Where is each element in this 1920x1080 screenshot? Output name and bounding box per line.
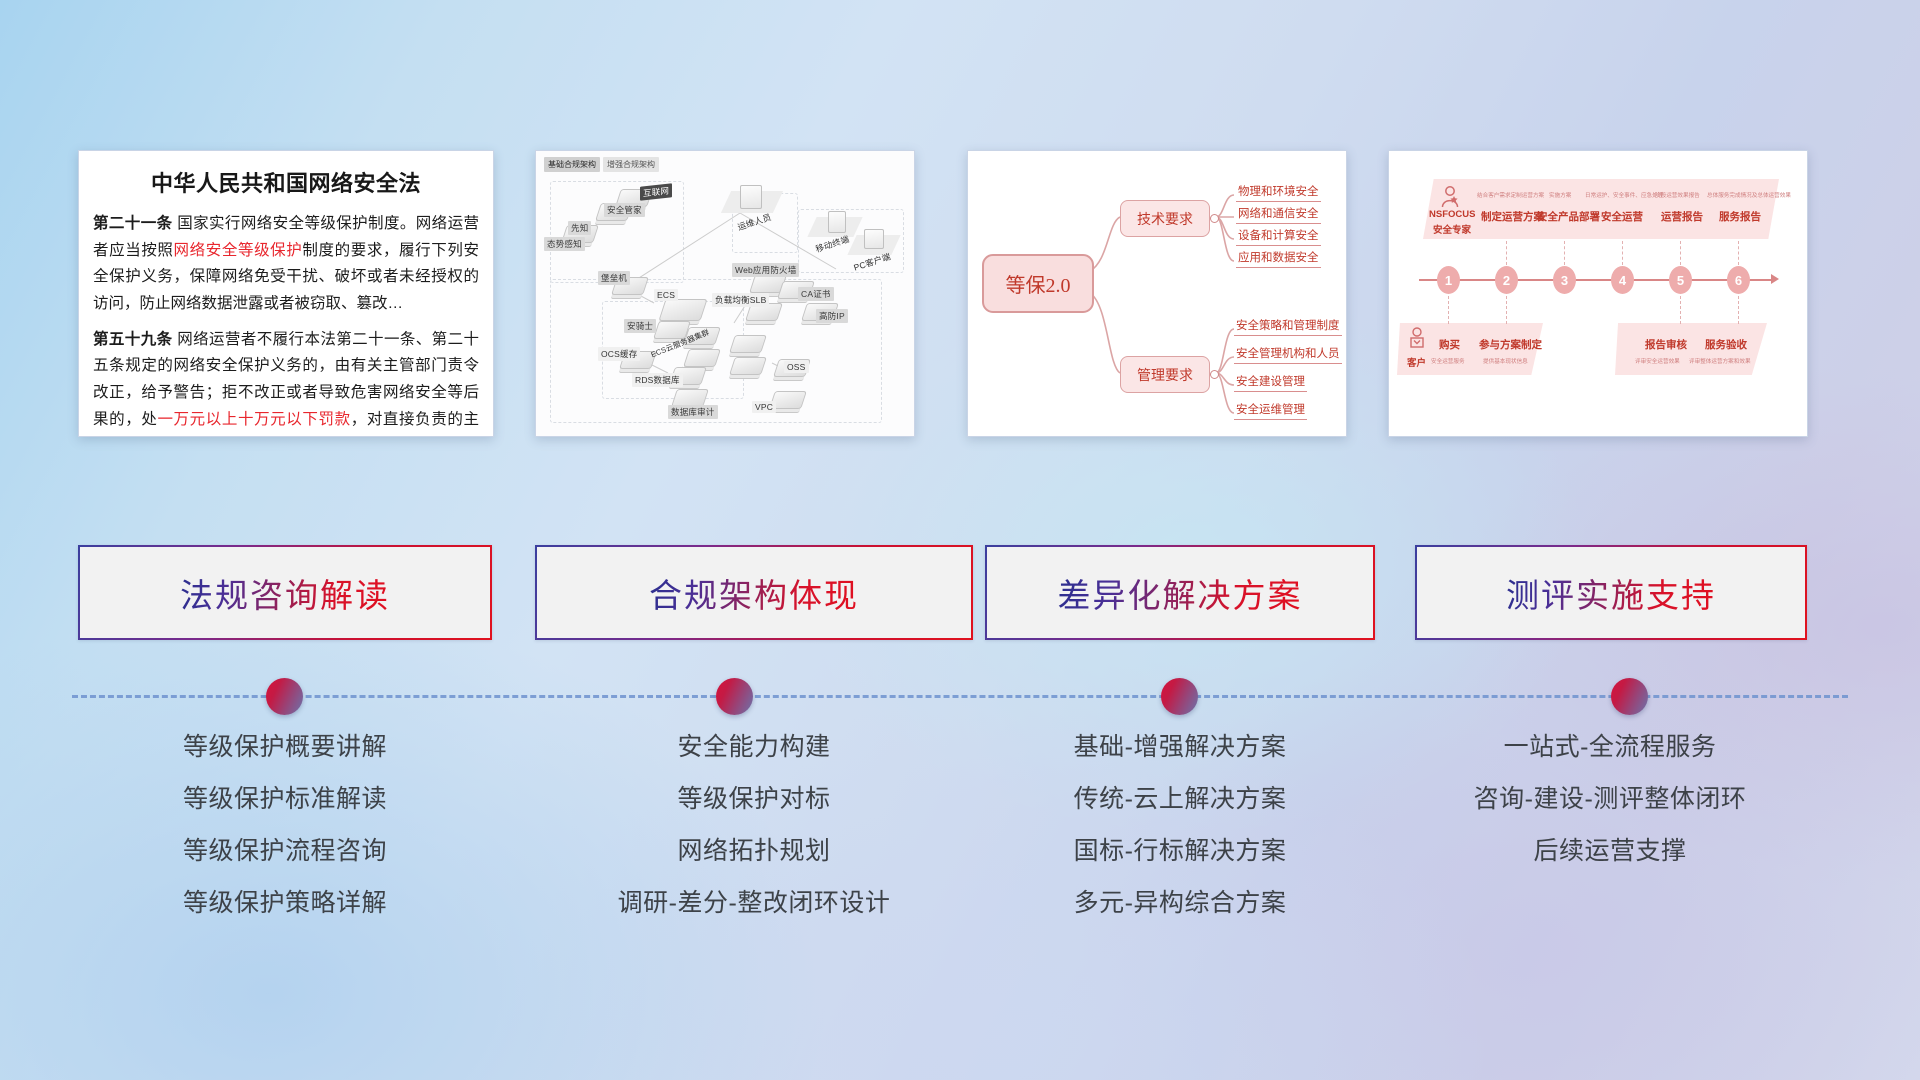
mindmap-diagram: 等保2.0 技术要求 物理和环境安全 网络和通信安全 设备和计算安全 应用和数据…	[968, 151, 1346, 436]
roadmap-step-5-bottom-label: 报告审核	[1645, 337, 1687, 352]
architecture-label-ca-cert: CA证书	[798, 287, 834, 301]
roadmap-step-2-bottom-label: 参与方案制定	[1479, 337, 1542, 352]
timeline	[0, 660, 1920, 740]
roadmap-dash-6-bottom	[1738, 296, 1740, 324]
mindmap-branch-technical: 技术要求	[1120, 200, 1210, 237]
architecture-icon-mobile-screen	[828, 211, 846, 233]
law-article-21: 第二十一条 国家实行网络安全等级保护制度。网络运营者应当按照网络安全等级保护制度…	[93, 211, 479, 318]
list-item: 等级保护标准解读	[78, 787, 492, 812]
architecture-node-ecs-b	[686, 349, 718, 367]
mindmap-leaf-physical-env: 物理和环境安全	[1236, 183, 1321, 202]
roadmap-diagram: NSFOCUS 安全专家 客户 1 2 3 4 5 6	[1389, 151, 1807, 436]
pill-regulation-consulting[interactable]: 法规咨询解读	[78, 545, 492, 640]
architecture-label-db-audit: 数据库审计	[668, 405, 718, 419]
law-article-59-label: 第五十九条	[93, 331, 173, 348]
architecture-label-bastion-host: 堡垒机	[598, 271, 630, 285]
roadmap-step-6-top-sub: 总体服务完成情况及总体运营效果	[1707, 191, 1791, 199]
architecture-icon-admin-screen	[740, 185, 762, 209]
mindmap-leaf-policy-system: 安全策略和管理制度	[1234, 317, 1342, 336]
list-item: 基础-增强解决方案	[985, 735, 1375, 760]
mindmap-leaf-app-data: 应用和数据安全	[1236, 249, 1321, 268]
roadmap-dash-5-bottom	[1680, 296, 1682, 324]
timeline-dot-3[interactable]	[1161, 678, 1198, 715]
architecture-label-security-butler: 安全管家	[604, 203, 645, 217]
pill-regulation-consulting-label: 法规咨询解读	[180, 569, 390, 617]
roadmap-step-5-bottom-sub: 评审安全运营效果	[1635, 357, 1680, 365]
mindmap-root-node: 等保2.0	[982, 254, 1094, 313]
roadmap-dash-6-top	[1738, 241, 1740, 265]
architecture-node-vpc	[772, 391, 804, 409]
architecture-label-slb: 负载均衡SLB	[712, 293, 769, 307]
architecture-node-ecs-c	[732, 335, 764, 353]
roadmap-step-6-bottom-label: 服务验收	[1705, 337, 1747, 352]
law-article-59-seg-1: 一万元以上十万元以下罚款	[157, 411, 350, 428]
pill-assessment-support[interactable]: 测评实施支持	[1415, 545, 1807, 640]
list-item: 一站式-全流程服务	[1400, 735, 1820, 760]
mindmap-leaf-construction-mgmt: 安全建设管理	[1234, 373, 1307, 392]
roadmap-step-1-node[interactable]: 1	[1437, 266, 1460, 294]
mindmap-leaf-org-personnel: 安全管理机构和人员	[1234, 345, 1342, 364]
mindmap-branch-management: 管理要求	[1120, 356, 1210, 393]
law-title: 中华人民共和国网络安全法	[79, 166, 493, 198]
detail-column-solution: 基础-增强解决方案 传统-云上解决方案 国标-行标解决方案 多元-异构综合方案	[985, 735, 1375, 943]
card-dengbao-mindmap[interactable]: 等保2.0 技术要求 物理和环境安全 网络和通信安全 设备和计算安全 应用和数据…	[967, 150, 1347, 437]
architecture-label-xianzhi: 先知	[568, 221, 591, 235]
roadmap-step-5-top-label: 运营报告	[1661, 209, 1703, 224]
architecture-label-situation-awareness: 态势感知	[544, 237, 585, 251]
pill-differentiated-solution-label: 差异化解决方案	[1058, 569, 1303, 617]
architecture-label-vpc: VPC	[752, 401, 776, 413]
list-item: 咨询-建设-测评整体闭环	[1400, 787, 1820, 812]
pill-compliance-architecture[interactable]: 合规架构体现	[535, 545, 973, 640]
roadmap-step-3-node[interactable]: 3	[1553, 266, 1576, 294]
card-compliance-architecture[interactable]: 基础合规架构 增强合规架构	[535, 150, 915, 437]
architecture-label-anqishi: 安骑士	[624, 319, 656, 333]
roadmap-step-1-bottom-label: 购买	[1439, 337, 1460, 352]
roadmap-dash-2-bottom	[1506, 296, 1508, 324]
architecture-label-waf: Web应用防火墙	[732, 263, 799, 277]
roadmap-expert-name2: 安全专家	[1433, 222, 1471, 236]
architecture-node-ecs	[662, 299, 704, 321]
list-item: 等级保护概要讲解	[78, 735, 492, 760]
list-item: 网络拓扑规划	[520, 839, 988, 864]
roadmap-step-4-top-sub: 日常运护、安全事件、应急处理	[1585, 191, 1663, 199]
law-article-21-label: 第二十一条	[93, 215, 173, 232]
mindmap-leaf-device-compute: 设备和计算安全	[1236, 227, 1321, 246]
list-item: 安全能力构建	[520, 735, 988, 760]
pill-compliance-architecture-label: 合规架构体现	[649, 569, 859, 617]
mindmap-leaf-ops-mgmt: 安全运维管理	[1234, 401, 1307, 420]
roadmap-step-4-top-label: 安全运营	[1601, 209, 1643, 224]
roadmap-step-6-bottom-sub: 评审整体运营方案和效果	[1689, 357, 1751, 365]
architecture-node-ecs-d	[732, 357, 764, 375]
roadmap-dash-1-bottom	[1448, 296, 1450, 324]
timeline-dot-2[interactable]	[716, 678, 753, 715]
list-item: 等级保护对标	[520, 787, 988, 812]
category-pill-row: 法规咨询解读 合规架构体现 差异化解决方案 测评实施支持	[0, 545, 1920, 645]
customer-person-icon-svg	[1407, 327, 1427, 353]
list-item: 多元-异构综合方案	[985, 891, 1375, 916]
roadmap-step-2-top-label: 制定运营方案	[1481, 209, 1544, 224]
roadmap-step-1-bottom-sub: 安全运营服务	[1431, 357, 1465, 365]
roadmap-step-6-node[interactable]: 6	[1727, 266, 1750, 294]
thumbnail-card-row: 中华人民共和国网络安全法 第二十一条 国家实行网络安全等级保护制度。网络运营者应…	[0, 150, 1920, 440]
list-item: 调研-差分-整改闭环设计	[520, 891, 988, 916]
roadmap-dash-5-top	[1680, 241, 1682, 265]
card-cybersecurity-law[interactable]: 中华人民共和国网络安全法 第二十一条 国家实行网络安全等级保护制度。网络运营者应…	[78, 150, 494, 437]
detail-column-architecture: 安全能力构建 等级保护对标 网络拓扑规划 调研-差分-整改闭环设计	[520, 735, 988, 943]
pill-assessment-support-label: 测评实施支持	[1506, 569, 1716, 617]
roadmap-step-2-top-sub: 结合客户需求定制运营方案	[1477, 191, 1544, 199]
roadmap-dash-4-top	[1622, 241, 1624, 265]
architecture-label-ocs-cache: OCS缓存	[598, 347, 640, 361]
roadmap-step-4-node[interactable]: 4	[1611, 266, 1634, 294]
card-law-content: 中华人民共和国网络安全法 第二十一条 国家实行网络安全等级保护制度。网络运营者应…	[79, 151, 493, 436]
architecture-label-anti-ddos-ip: 高防IP	[816, 309, 848, 323]
pill-differentiated-solution[interactable]: 差异化解决方案	[985, 545, 1375, 640]
expert-person-icon-svg	[1439, 185, 1461, 209]
timeline-dot-4[interactable]	[1611, 678, 1648, 715]
mindmap-leaf-network-comm: 网络和通信安全	[1236, 205, 1321, 224]
roadmap-axis-line	[1419, 279, 1773, 281]
slide-canvas: 中华人民共和国网络安全法 第二十一条 国家实行网络安全等级保护制度。网络运营者应…	[0, 0, 1920, 1080]
detail-list-row: 等级保护概要讲解 等级保护标准解读 等级保护流程咨询 等级保护策略详解 安全能力…	[0, 735, 1920, 985]
timeline-dot-1[interactable]	[266, 678, 303, 715]
law-article-59: 第五十九条 网络运营者不履行本法第二十一条、第二十五条规定的网络安全保护义务的，…	[93, 327, 479, 437]
detail-column-regulation: 等级保护概要讲解 等级保护标准解读 等级保护流程咨询 等级保护策略详解	[78, 735, 492, 943]
list-item: 国标-行标解决方案	[985, 839, 1375, 864]
law-article-21-seg-1: 网络安全等级保护	[174, 242, 303, 259]
mindmap-collapse-dot-management[interactable]	[1210, 370, 1219, 379]
roadmap-step-2-node[interactable]: 2	[1495, 266, 1518, 294]
architecture-label-rds-db: RDS数据库	[632, 373, 683, 387]
timeline-dashed-line	[72, 695, 1848, 698]
architecture-label-ecs: ECS	[654, 289, 678, 301]
list-item: 传统-云上解决方案	[985, 787, 1375, 812]
list-item: 等级保护流程咨询	[78, 839, 492, 864]
roadmap-step-5-node[interactable]: 5	[1669, 266, 1692, 294]
roadmap-step-6-top-label: 服务报告	[1719, 209, 1761, 224]
roadmap-dash-3-top	[1564, 241, 1566, 265]
roadmap-step-3-top-sub: 实施方案	[1549, 191, 1571, 199]
architecture-icon-pc-screen	[864, 229, 884, 249]
customer-person-icon	[1407, 327, 1427, 358]
architecture-diagram: 基础合规架构 增强合规架构	[536, 151, 914, 436]
roadmap-dash-2-top	[1506, 241, 1508, 265]
architecture-label-oss: OSS	[784, 361, 809, 373]
detail-column-assessment: 一站式-全流程服务 咨询-建设-测评整体闭环 后续运营支撑	[1400, 735, 1820, 891]
roadmap-step-5-top-sub: 阶段运营效果报告	[1655, 191, 1700, 199]
card-service-roadmap[interactable]: NSFOCUS 安全专家 客户 1 2 3 4 5 6	[1388, 150, 1808, 437]
mindmap-collapse-dot-technical[interactable]	[1210, 214, 1219, 223]
roadmap-expert-name: NSFOCUS	[1429, 209, 1475, 220]
roadmap-step-3-top-label: 安全产品部署	[1537, 209, 1600, 224]
roadmap-axis-arrow-icon	[1771, 274, 1779, 284]
roadmap-customer-name: 客户	[1407, 355, 1426, 369]
list-item: 等级保护策略详解	[78, 891, 492, 916]
list-item: 后续运营支撑	[1400, 839, 1820, 864]
roadmap-step-2-bottom-sub: 提供基本现状信息	[1483, 357, 1528, 365]
